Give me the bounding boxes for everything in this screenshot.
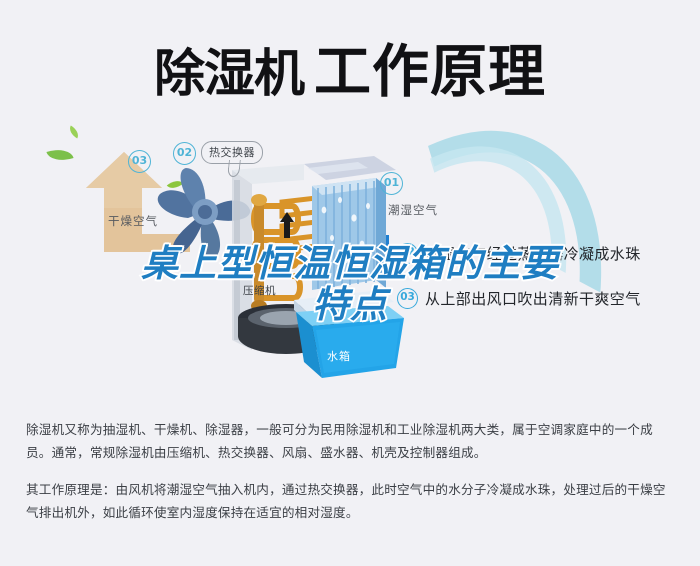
legend-list: 02 潮湿空气经过蒸发器冷凝成水珠 03 从上部出风口吹出清新干爽空气 xyxy=(397,243,687,333)
legend-item-number: 03 xyxy=(397,288,418,309)
body-copy: 除湿机又称为抽湿机、干燥机、除湿器，一般可分为民用除湿机和工业除湿机两大类，属于… xyxy=(26,418,678,538)
diagram-marker-02: 02 xyxy=(173,142,196,165)
page-title-part2: 工作原理 xyxy=(314,39,546,105)
compressor-label: 压缩机 xyxy=(243,283,276,298)
legend-item-label: 潮湿空气经过蒸发器冷凝成水珠 xyxy=(425,243,641,264)
diagram-marker-01: 01 xyxy=(380,172,403,195)
body-paragraph-1: 除湿机又称为抽湿机、干燥机、除湿器，一般可分为民用除湿机和工业除湿机两大类，属于… xyxy=(26,418,678,464)
leaf-icon xyxy=(67,126,81,139)
page-title-part1: 除湿机 xyxy=(154,45,304,104)
body-paragraph-2: 其工作原理是：由风机将潮湿空气抽入机内，通过热交换器，此时空气中的水分子冷凝成水… xyxy=(26,478,678,524)
poster-root: 除湿机工作原理 xyxy=(0,0,700,566)
diagram-marker-03: 03 xyxy=(128,150,151,173)
legend-item: 02 潮湿空气经过蒸发器冷凝成水珠 xyxy=(397,243,687,264)
humid-air-label: 潮湿空气 xyxy=(388,202,438,218)
water-tank-label: 水箱 xyxy=(327,348,351,364)
water-tank-icon xyxy=(296,306,404,378)
legend-item-number: 02 xyxy=(397,243,418,264)
legend-item: 03 从上部出风口吹出清新干爽空气 xyxy=(397,288,687,309)
page-title: 除湿机工作原理 xyxy=(0,26,700,108)
dry-air-label: 干燥空气 xyxy=(108,213,158,229)
legend-item-label: 从上部出风口吹出清新干爽空气 xyxy=(425,288,641,309)
